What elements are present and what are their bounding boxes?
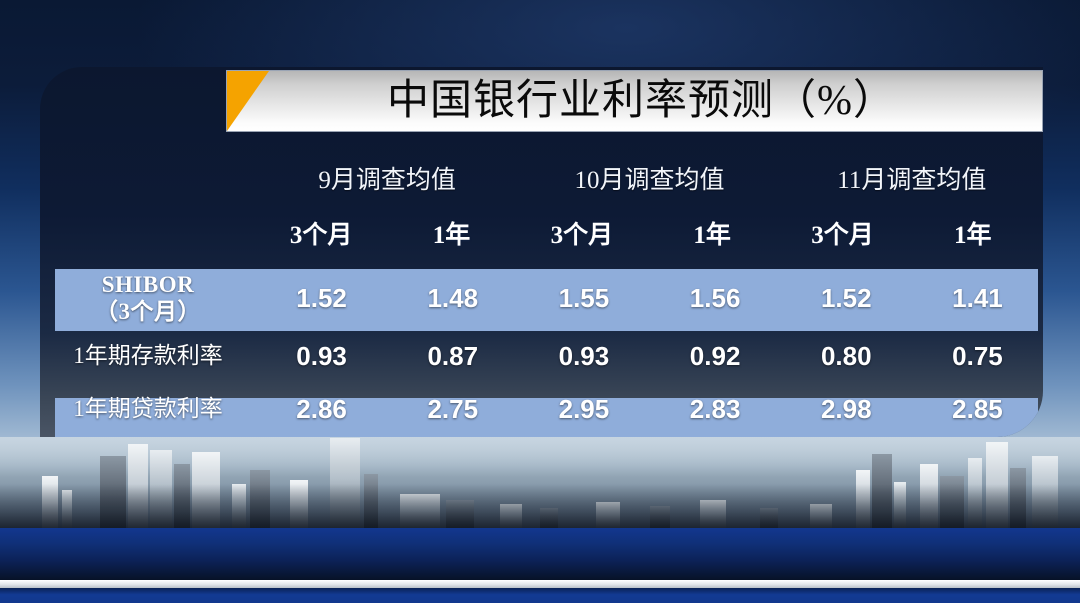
cell-value: 0.75	[912, 341, 1043, 372]
row-label: 1年期贷款利率	[40, 395, 256, 422]
cell-value: 1.55	[518, 283, 649, 314]
bottom-divider-strip	[0, 580, 1080, 588]
page-title: 中国银行业利率预测（%）	[227, 80, 1042, 122]
subheader-cell-0: 3个月	[256, 215, 386, 251]
cell-value: 1.52	[781, 283, 912, 314]
subheader-row: 3个月 1年 3个月 1年 3个月 1年	[55, 202, 1038, 264]
subheader-cell-5: 1年	[908, 215, 1038, 251]
cityscape-image	[0, 437, 1080, 530]
cell-value: 2.98	[781, 394, 912, 425]
row-label-line2: （3个月）	[95, 299, 201, 324]
slide-title-bar: 中国银行业利率预测（%）	[226, 70, 1043, 132]
cell-value: 2.95	[518, 394, 649, 425]
cell-value: 2.86	[256, 394, 387, 425]
table-row: SHIBOR （3个月） 1.52 1.48 1.55 1.56 1.52 1.…	[40, 265, 1043, 331]
cell-value: 0.93	[518, 341, 649, 372]
table-row: 1年期贷款利率 2.86 2.75 2.95 2.83 2.98 2.85	[40, 381, 1043, 437]
cell-value: 2.85	[912, 394, 1043, 425]
bottom-accent-bar	[0, 588, 1080, 603]
cell-value: 1.48	[387, 283, 518, 314]
cell-value: 0.93	[256, 341, 387, 372]
cell-value: 1.56	[650, 283, 781, 314]
group-header-spacer	[40, 160, 256, 202]
table-row: 1年期存款利率 0.93 0.87 0.93 0.92 0.80 0.75	[40, 331, 1043, 381]
cell-value: 1.41	[912, 283, 1043, 314]
group-header-sep: 9月调查均值	[256, 160, 518, 202]
group-header-row: 9月调查均值 10月调查均值 11月调查均值	[40, 160, 1043, 202]
cell-value: 0.80	[781, 341, 912, 372]
subheader-cell-1: 1年	[386, 215, 516, 251]
cell-value: 0.92	[650, 341, 781, 372]
bottom-blue-bar	[0, 528, 1080, 580]
cell-value: 1.52	[256, 283, 387, 314]
cell-value: 0.87	[387, 341, 518, 372]
row-label: 1年期存款利率	[40, 342, 256, 369]
cell-value: 2.75	[387, 394, 518, 425]
cell-value: 2.83	[650, 394, 781, 425]
subheader-cell-3: 1年	[647, 215, 777, 251]
row-label-line1: SHIBOR	[102, 272, 194, 297]
group-header-nov: 11月调查均值	[781, 160, 1043, 202]
subheader-cell-4: 3个月	[777, 215, 907, 251]
row-label: SHIBOR （3个月）	[40, 271, 256, 325]
group-header-oct: 10月调查均值	[518, 160, 780, 202]
subheader-cell-2: 3个月	[517, 215, 647, 251]
